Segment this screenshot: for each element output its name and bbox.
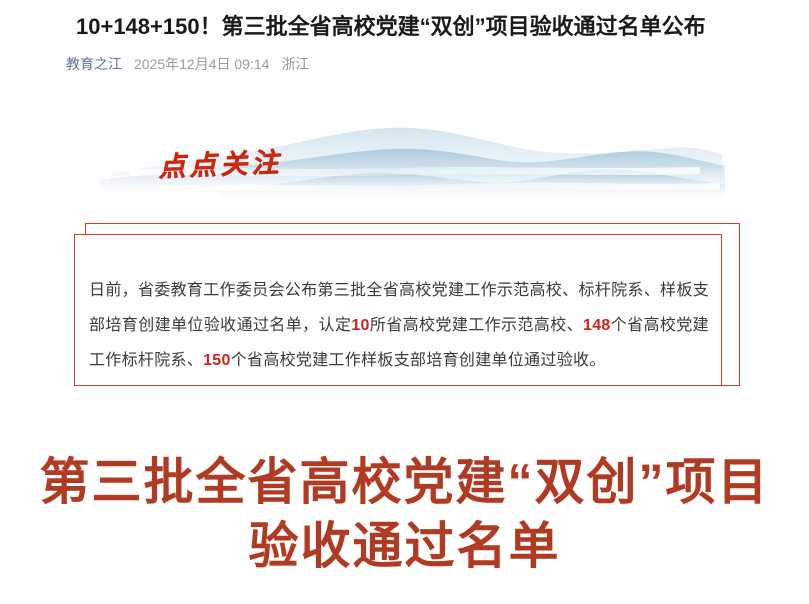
meta-timestamp: 2025年12月4日 09:14 xyxy=(134,54,269,74)
article-meta: 教育之江 2025年12月4日 09:14 浙江 xyxy=(66,54,309,74)
summary-count-3: 148 xyxy=(583,317,611,334)
banner-caption-text: 点点关注 xyxy=(157,140,282,184)
meta-source[interactable]: 教育之江 xyxy=(66,54,122,74)
summary-count-5: 150 xyxy=(203,352,231,369)
summary-text-6: 个省高校党建工作样板支部培育创建单位通过验收。 xyxy=(231,352,606,369)
summary-frame-inner: 日前，省委教育工作委员会公布第三批全省高校党建工作示范高校、标杆院系、样板支部培… xyxy=(74,234,722,386)
summary-count-1: 10 xyxy=(351,317,369,334)
poster-heading-line-2: 验收通过名单 xyxy=(0,514,809,578)
summary-text-2: 所省高校党建工作示范高校、 xyxy=(370,317,583,334)
ink-wash-banner-image: 点点关注 xyxy=(100,108,725,204)
poster-heading: 第三批全省高校党建“双创”项目 验收通过名单 xyxy=(0,450,809,578)
poster-heading-line-1: 第三批全省高校党建“双创”项目 xyxy=(0,450,809,514)
summary-paragraph: 日前，省委教育工作委员会公布第三批全省高校党建工作示范高校、标杆院系、样板支部培… xyxy=(89,273,709,378)
summary-callout-box: 日前，省委教育工作委员会公布第三批全省高校党建工作示范高校、标杆院系、样板支部培… xyxy=(74,223,740,388)
meta-region: 浙江 xyxy=(281,54,309,74)
page-title: 10+148+150！第三批全省高校党建“双创”项目验收通过名单公布 xyxy=(76,12,776,42)
